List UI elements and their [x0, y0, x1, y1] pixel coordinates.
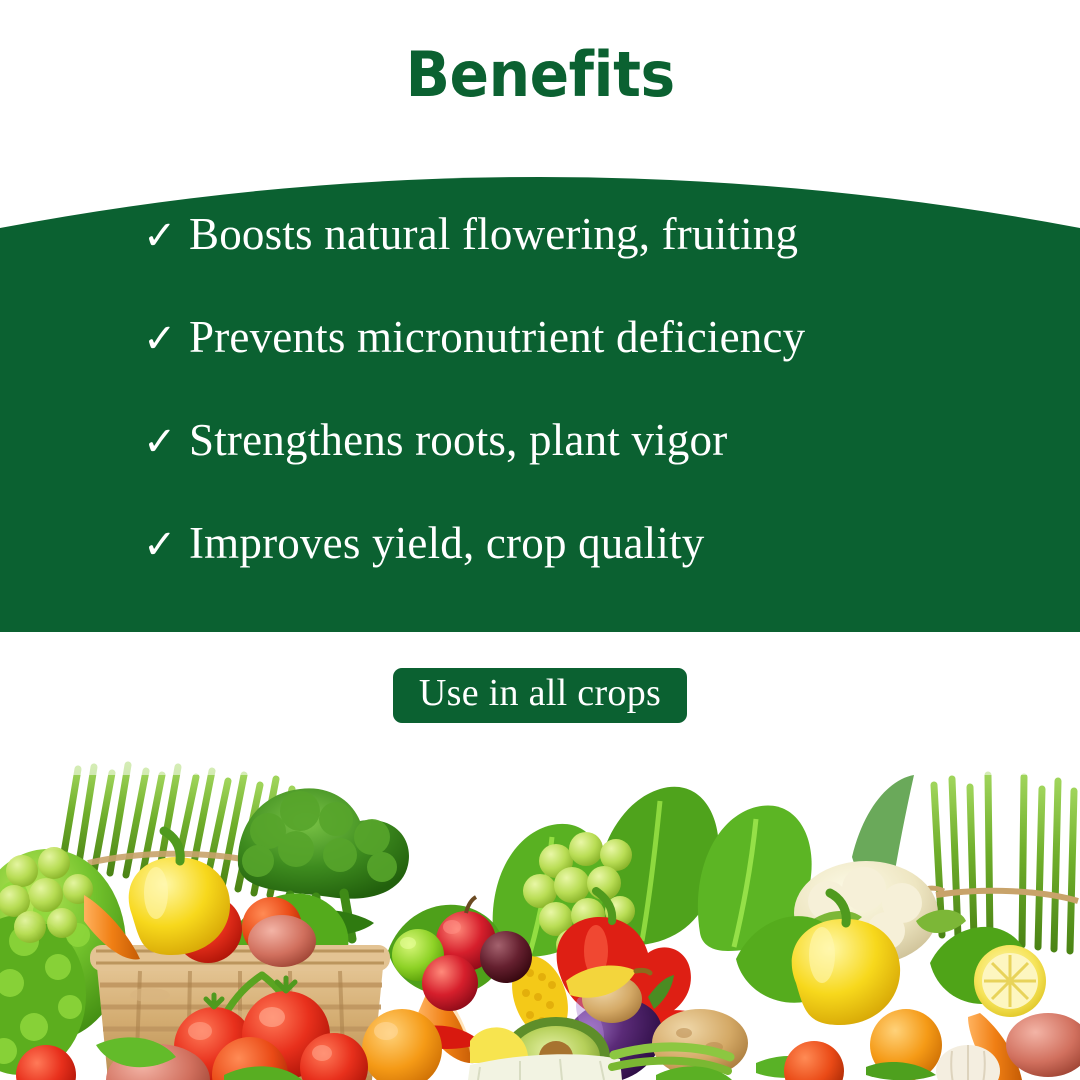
- benefits-list: ✓ Boosts natural flowering, fruiting ✓ P…: [0, 140, 1080, 632]
- use-in-all-crops-badge: Use in all crops: [393, 668, 687, 723]
- check-icon: ✓: [143, 525, 189, 565]
- benefit-item: ✓ Strengthens roots, plant vigor: [143, 418, 1080, 521]
- infographic-canvas: Benefits ✓ Boosts natural flowering, fru…: [0, 0, 1080, 1080]
- benefit-label: Improves yield, crop quality: [189, 521, 704, 566]
- benefit-label: Strengthens roots, plant vigor: [189, 418, 727, 463]
- check-icon: ✓: [143, 216, 189, 256]
- benefit-item: ✓ Boosts natural flowering, fruiting: [143, 212, 1080, 315]
- title-area: Benefits: [0, 0, 1080, 150]
- check-icon: ✓: [143, 422, 189, 462]
- benefit-item: ✓ Improves yield, crop quality: [143, 521, 1080, 624]
- produce-illustration: [0, 745, 1080, 1080]
- benefit-label: Boosts natural flowering, fruiting: [189, 212, 798, 257]
- check-icon: ✓: [143, 319, 189, 359]
- benefits-panel: ✓ Boosts natural flowering, fruiting ✓ P…: [0, 140, 1080, 632]
- benefit-label: Prevents micronutrient deficiency: [189, 315, 805, 360]
- produce-photo: [0, 745, 1080, 1080]
- page-title: Benefits: [405, 44, 674, 106]
- badge-row: Use in all crops: [0, 668, 1080, 723]
- benefit-item: ✓ Prevents micronutrient deficiency: [143, 315, 1080, 418]
